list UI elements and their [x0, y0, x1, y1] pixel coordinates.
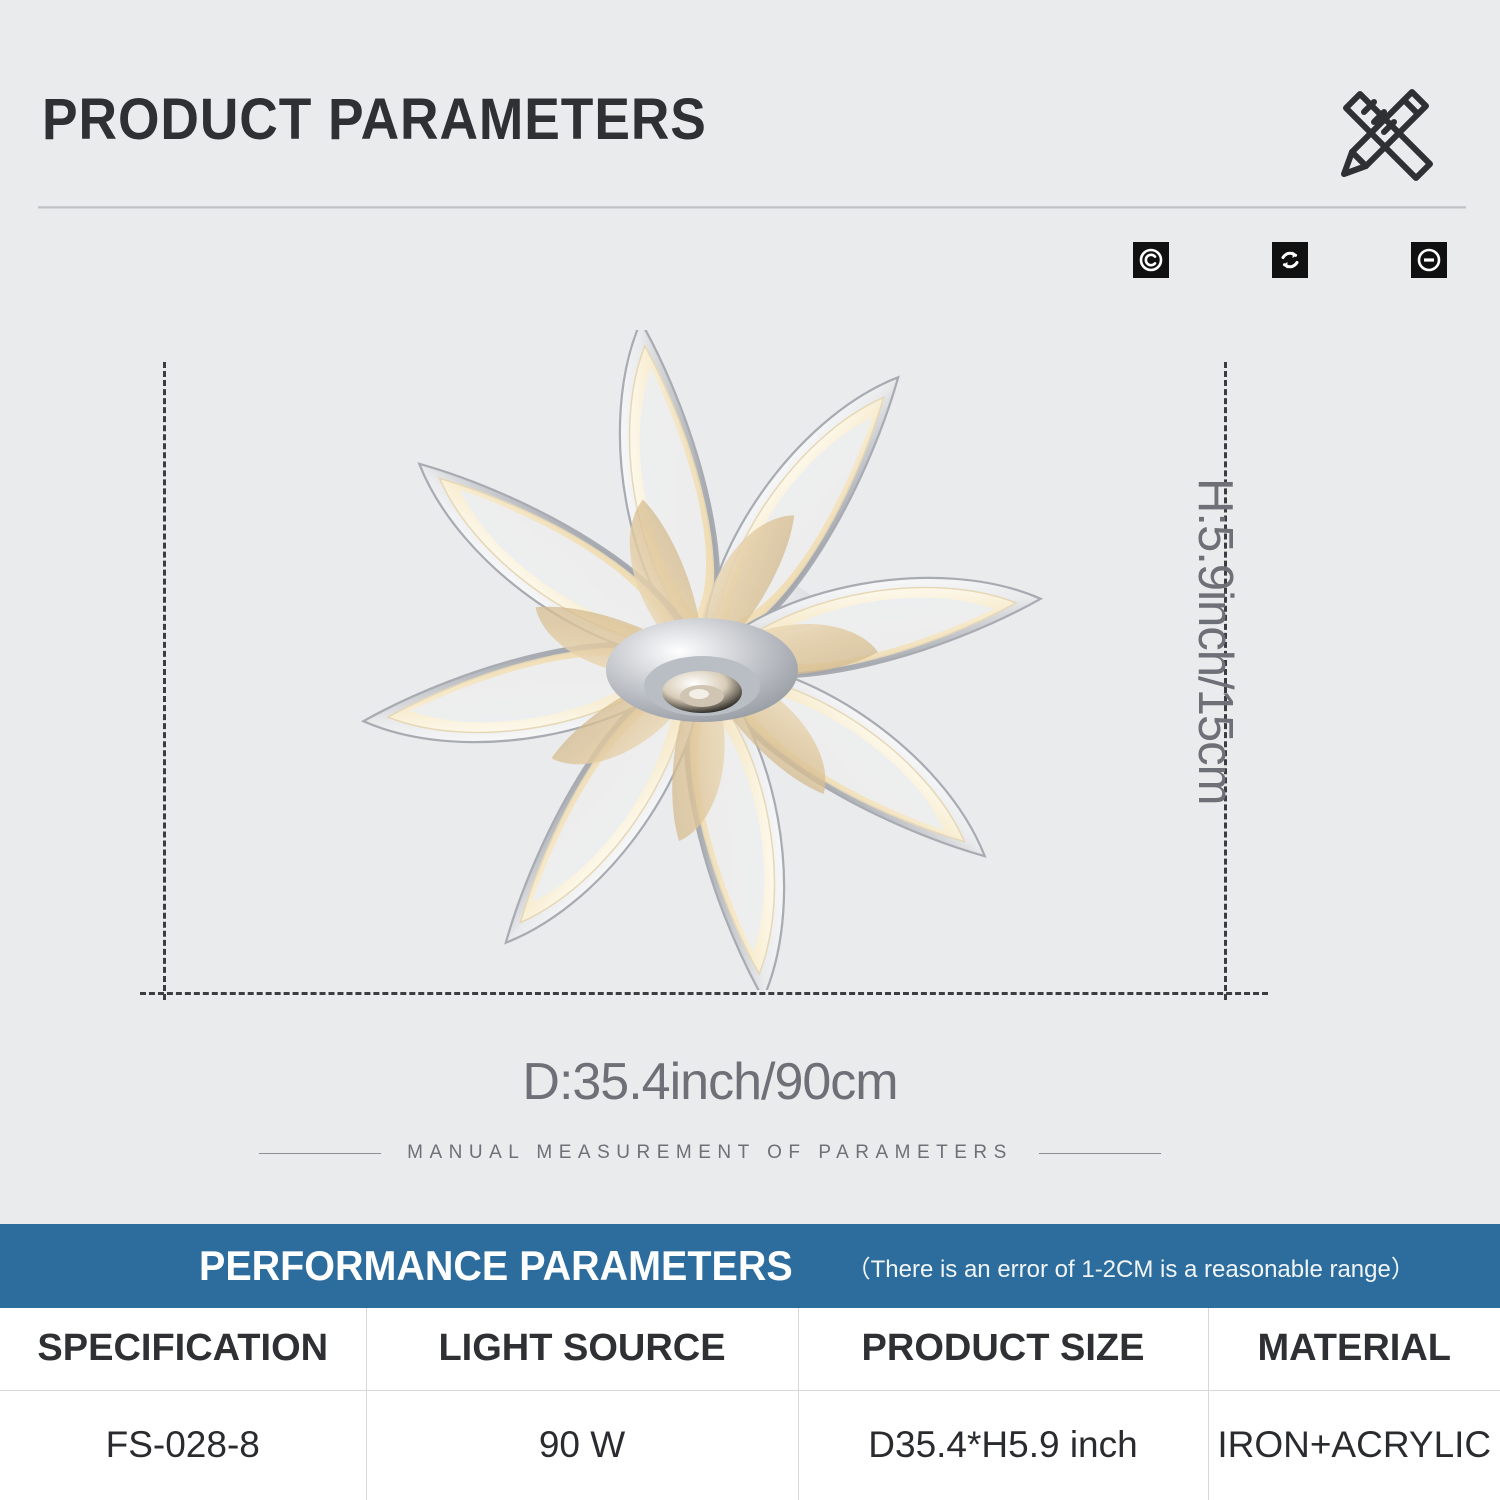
specification-table: SPECIFICATION LIGHT SOURCE PRODUCT SIZE … [0, 1308, 1500, 1500]
title-divider [38, 206, 1466, 209]
performance-title: PERFORMANCE PARAMETERS [199, 1242, 793, 1290]
height-dimension-label: H:5.9inch/15cm [1183, 478, 1243, 898]
column-header-material: MATERIAL [1208, 1308, 1500, 1390]
cell-light-source: 90 W [366, 1390, 798, 1500]
column-header-specification: SPECIFICATION [0, 1308, 366, 1390]
cell-product-size: D35.4*H5.9 inch [798, 1390, 1208, 1500]
performance-note: （There is an error of 1-2CM is a reasona… [847, 1249, 1415, 1284]
product-image [150, 330, 1250, 990]
table-header-row: SPECIFICATION LIGHT SOURCE PRODUCT SIZE … [0, 1308, 1500, 1390]
copyright-badge [1133, 242, 1169, 278]
manual-measurement-text: MANUAL MEASUREMENT OF PARAMETERS [407, 1142, 1013, 1164]
page-title: PRODUCT PARAMETERS [42, 86, 707, 153]
column-header-light-source: LIGHT SOURCE [366, 1308, 798, 1390]
product-parameters-section: PRODUCT PARAMETERS [0, 0, 1500, 1222]
note-rule-right [1039, 1153, 1161, 1154]
note-rule-left [259, 1153, 381, 1154]
cell-specification: FS-028-8 [0, 1390, 366, 1500]
pencil-ruler-icon [1330, 82, 1442, 186]
no-entry-badge [1411, 242, 1447, 278]
table-row: FS-028-8 90 W D35.4*H5.9 inch IRON+ACRYL… [0, 1390, 1500, 1500]
dimension-line-left [163, 362, 166, 1000]
recycle-badge [1272, 242, 1308, 278]
diameter-dimension-label: D:35.4inch/90cm [0, 1052, 1420, 1112]
performance-parameters-header: PERFORMANCE PARAMETERS （There is an erro… [0, 1224, 1500, 1308]
manual-measurement-note: MANUAL MEASUREMENT OF PARAMETERS [0, 1142, 1420, 1164]
column-header-product-size: PRODUCT SIZE [798, 1308, 1208, 1390]
dimension-line-bottom [140, 992, 1268, 995]
cell-material: IRON+ACRYLIC [1208, 1390, 1500, 1500]
